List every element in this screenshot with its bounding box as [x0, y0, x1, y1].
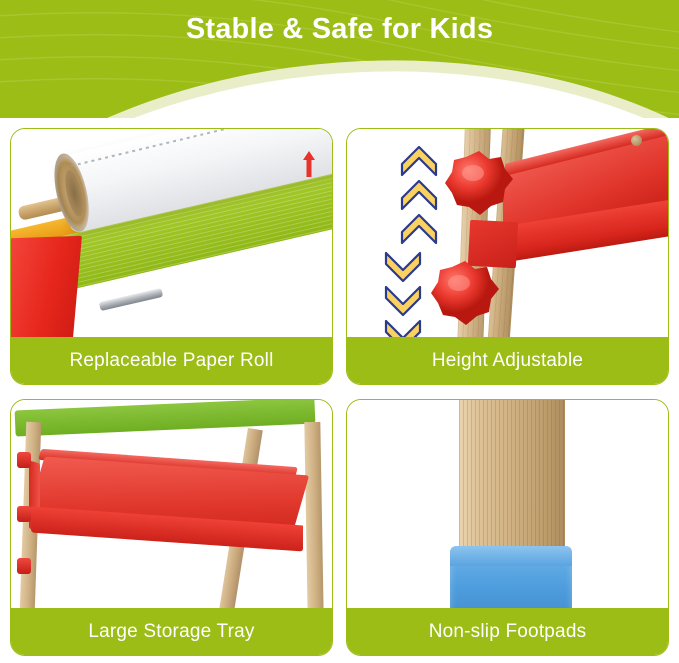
- panel-caption-large-storage-tray: Large Storage Tray: [11, 608, 332, 655]
- wood-screw-icon: [631, 135, 642, 146]
- panel-caption-non-slip-footpads: Non-slip Footpads: [347, 608, 668, 655]
- tray-mount-clip: [17, 452, 31, 468]
- blue-footpad-rim: [450, 546, 572, 566]
- chevron-down-icon: [383, 251, 423, 337]
- metal-hinge: [99, 288, 163, 311]
- paper-roll-photo: [11, 129, 332, 337]
- panel-caption-replaceable-paper-roll: Replaceable Paper Roll: [11, 337, 332, 384]
- storage-tray-photo: [11, 400, 332, 608]
- panel-caption-height-adjustable: Height Adjustable: [347, 337, 668, 384]
- red-side-board: [11, 236, 82, 337]
- chevron-up-icon: [399, 145, 439, 255]
- tray-mount-clip: [17, 506, 31, 522]
- page-title: Stable & Safe for Kids: [0, 13, 679, 46]
- tray-mount-clip: [17, 558, 31, 574]
- feature-panel-replaceable-paper-roll[interactable]: Replaceable Paper Roll: [10, 128, 333, 385]
- feature-panel-height-adjustable[interactable]: Height Adjustable: [346, 128, 669, 385]
- product-feature-infographic: Stable & Safe for Kids Replaceable Paper…: [0, 0, 679, 663]
- green-board-edge: [15, 400, 316, 437]
- easel-leg-right: [304, 422, 323, 608]
- star-knob-icon: [429, 259, 501, 331]
- height-adjustable-photo: [347, 129, 668, 337]
- red-arrow-icon: [302, 151, 316, 177]
- header-banner: Stable & Safe for Kids: [0, 0, 679, 118]
- feature-panel-large-storage-tray[interactable]: Large Storage Tray: [10, 399, 333, 656]
- star-knob-icon: [443, 149, 515, 221]
- feature-panel-non-slip-footpads[interactable]: Non-slip Footpads: [346, 399, 669, 656]
- feature-panel-grid: Replaceable Paper Roll: [10, 128, 669, 656]
- footpad-photo: [347, 400, 668, 608]
